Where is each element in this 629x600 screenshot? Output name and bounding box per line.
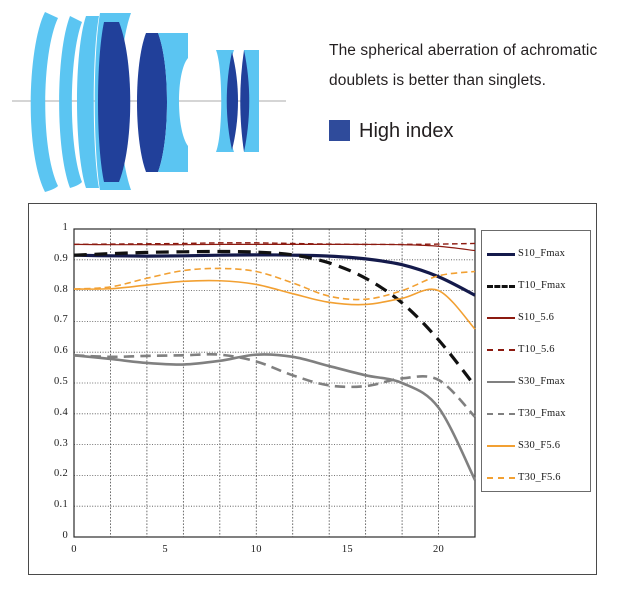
y-axis-tick-label: 0.1 [34, 499, 68, 510]
x-axis-tick-label: 0 [59, 544, 89, 555]
y-axis-tick-label: 0.8 [34, 284, 68, 295]
legend-swatch-icon [487, 375, 515, 387]
legend-swatch-icon [487, 279, 515, 291]
high-index-legend: High index [329, 120, 454, 141]
legend-item[interactable]: S10_5.6 [482, 301, 590, 333]
legend-label: T10_Fmax [518, 280, 566, 291]
lens-element-5-high-index [98, 22, 130, 182]
legend-label: T30_Fmax [518, 408, 566, 419]
series-line-s10-5-6 [74, 244, 475, 250]
legend-item[interactable]: S30_F5.6 [482, 429, 590, 461]
legend-item[interactable]: T30_F5.6 [482, 461, 590, 493]
legend-swatch-icon [487, 343, 515, 355]
legend-label: S10_5.6 [518, 312, 554, 323]
legend-item[interactable]: T10_Fmax [482, 269, 590, 301]
legend-item[interactable]: T10_5.6 [482, 333, 590, 365]
y-axis-tick-label: 0.6 [34, 345, 68, 356]
y-axis-tick-label: 0.7 [34, 314, 68, 325]
x-axis-tick-label: 5 [150, 544, 180, 555]
y-axis-tick-label: 0.9 [34, 253, 68, 264]
series-line-s30-fmax [74, 354, 475, 480]
caption-line-1: The spherical aberration of achromatic [329, 36, 619, 66]
lens-element-6-high-index [137, 33, 167, 172]
legend-label: S10_Fmax [518, 248, 565, 259]
y-axis-tick-label: 1 [34, 222, 68, 233]
high-index-label: High index [359, 121, 454, 141]
x-axis-tick-label: 20 [424, 544, 454, 555]
series-line-t30-fmax [74, 354, 475, 417]
legend-label: S30_Fmax [518, 376, 565, 387]
chart-frame: S10_FmaxT10_FmaxS10_5.6T10_5.6S30_FmaxT3… [28, 203, 597, 575]
series-line-s30-f5-6 [74, 281, 475, 330]
legend-label: S30_F5.6 [518, 440, 560, 451]
legend-item[interactable]: S30_Fmax [482, 365, 590, 397]
caption-line-2: doublets is better than singlets. [329, 66, 619, 96]
legend-swatch-icon [487, 471, 515, 483]
y-axis-tick-label: 0.5 [34, 376, 68, 387]
chart-legend: S10_FmaxT10_FmaxS10_5.6T10_5.6S30_FmaxT3… [481, 230, 591, 492]
y-axis-tick-label: 0.4 [34, 407, 68, 418]
legend-item[interactable]: T30_Fmax [482, 397, 590, 429]
x-axis-tick-label: 15 [332, 544, 362, 555]
series-line-t10-fmax [74, 251, 475, 386]
legend-swatch-icon [487, 439, 515, 451]
legend-item[interactable]: S10_Fmax [482, 237, 590, 269]
high-index-color-swatch [329, 120, 350, 141]
legend-label: T30_F5.6 [518, 472, 561, 483]
legend-label: T10_5.6 [518, 344, 555, 355]
legend-swatch-icon [487, 311, 515, 323]
y-axis-tick-label: 0 [34, 530, 68, 541]
lens-diagram [0, 0, 310, 200]
legend-swatch-icon [487, 407, 515, 419]
y-axis-tick-label: 0.2 [34, 468, 68, 479]
series-line-t30-f5-6 [74, 268, 475, 299]
y-axis-tick-label: 0.3 [34, 438, 68, 449]
x-axis-tick-label: 10 [241, 544, 271, 555]
caption-block: The spherical aberration of achromatic d… [329, 36, 619, 96]
legend-swatch-icon [487, 247, 515, 259]
